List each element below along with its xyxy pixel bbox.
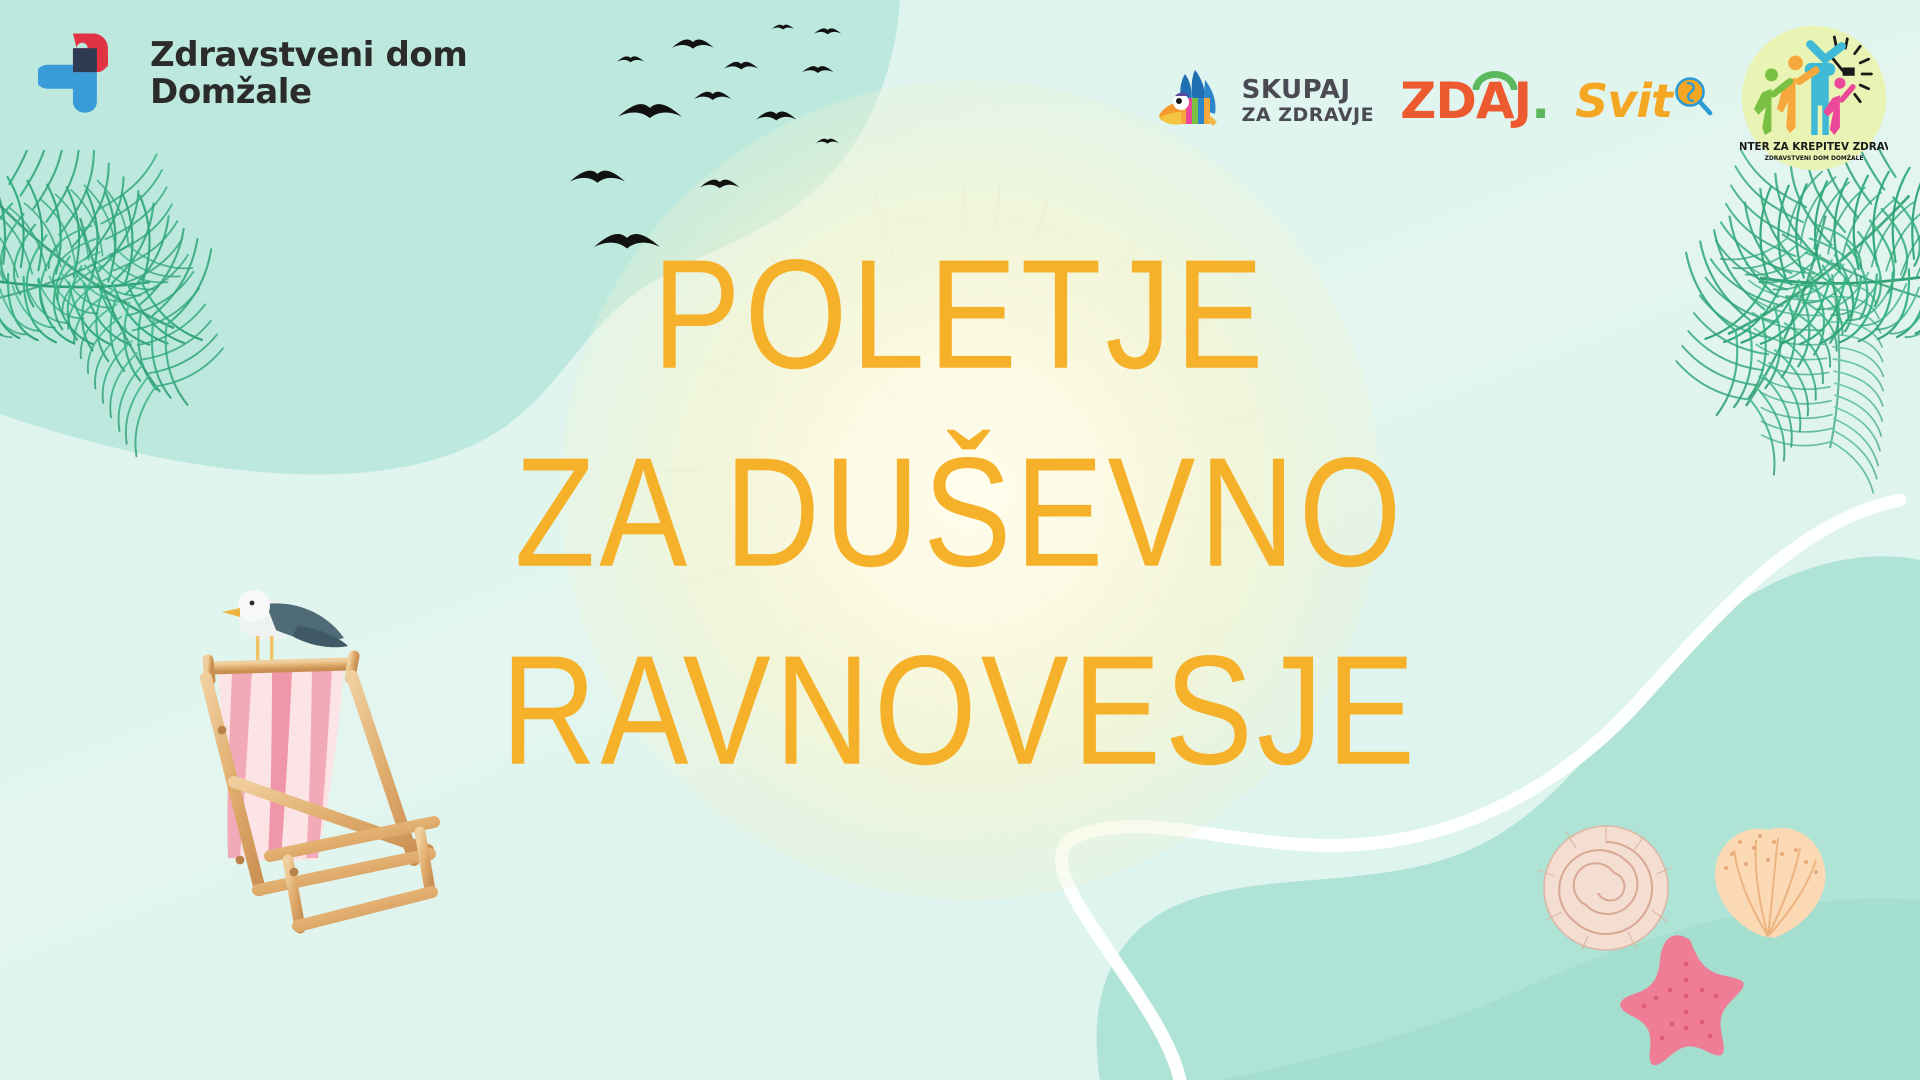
header-bar: Zdravstveni dom Domžale: [0, 0, 1920, 200]
partner-center-za-krepitev-zdravja[interactable]: CENTER ZA KREPITEV ZDRAVJA ZDRAVSTVENI D…: [1740, 24, 1888, 177]
partner-skupaj-za-zdravje[interactable]: SKUPAJ ZA ZDRAVJE: [1155, 68, 1374, 134]
svit-wordmark: Svit: [1575, 74, 1672, 128]
institution-name: Zdravstveni dom Domžale: [150, 37, 467, 110]
zdaj-dot: .: [1531, 72, 1549, 130]
ckz-subtitle: ZDRAVSTVENI DOM DOMŽALE: [1765, 154, 1864, 162]
institution-logo[interactable]: Zdravstveni dom Domžale: [38, 28, 467, 120]
magnifier-icon: [1674, 76, 1714, 118]
poster-canvas: POLETJE ZA DUŠEVNO RAVNOVESJE: [0, 0, 1920, 1080]
partner-logos: SKUPAJ ZA ZDRAVJE ZDAJ. Svit: [1155, 24, 1888, 177]
partner-zdaj[interactable]: ZDAJ.: [1400, 72, 1549, 130]
skupaj-line-1: SKUPAJ: [1242, 77, 1374, 103]
toucan-bird-icon: [1155, 68, 1233, 134]
partner-svit[interactable]: Svit: [1575, 74, 1714, 128]
health-cross-icon: [38, 28, 130, 120]
skupaj-line-2: ZA ZDRAVJE: [1242, 106, 1374, 125]
ckz-badge-icon: CENTER ZA KREPITEV ZDRAVJA ZDRAVSTVENI D…: [1740, 24, 1888, 172]
ckz-title: CENTER ZA KREPITEV ZDRAVJA: [1740, 141, 1888, 153]
zdaj-arc-icon: [1472, 64, 1518, 90]
